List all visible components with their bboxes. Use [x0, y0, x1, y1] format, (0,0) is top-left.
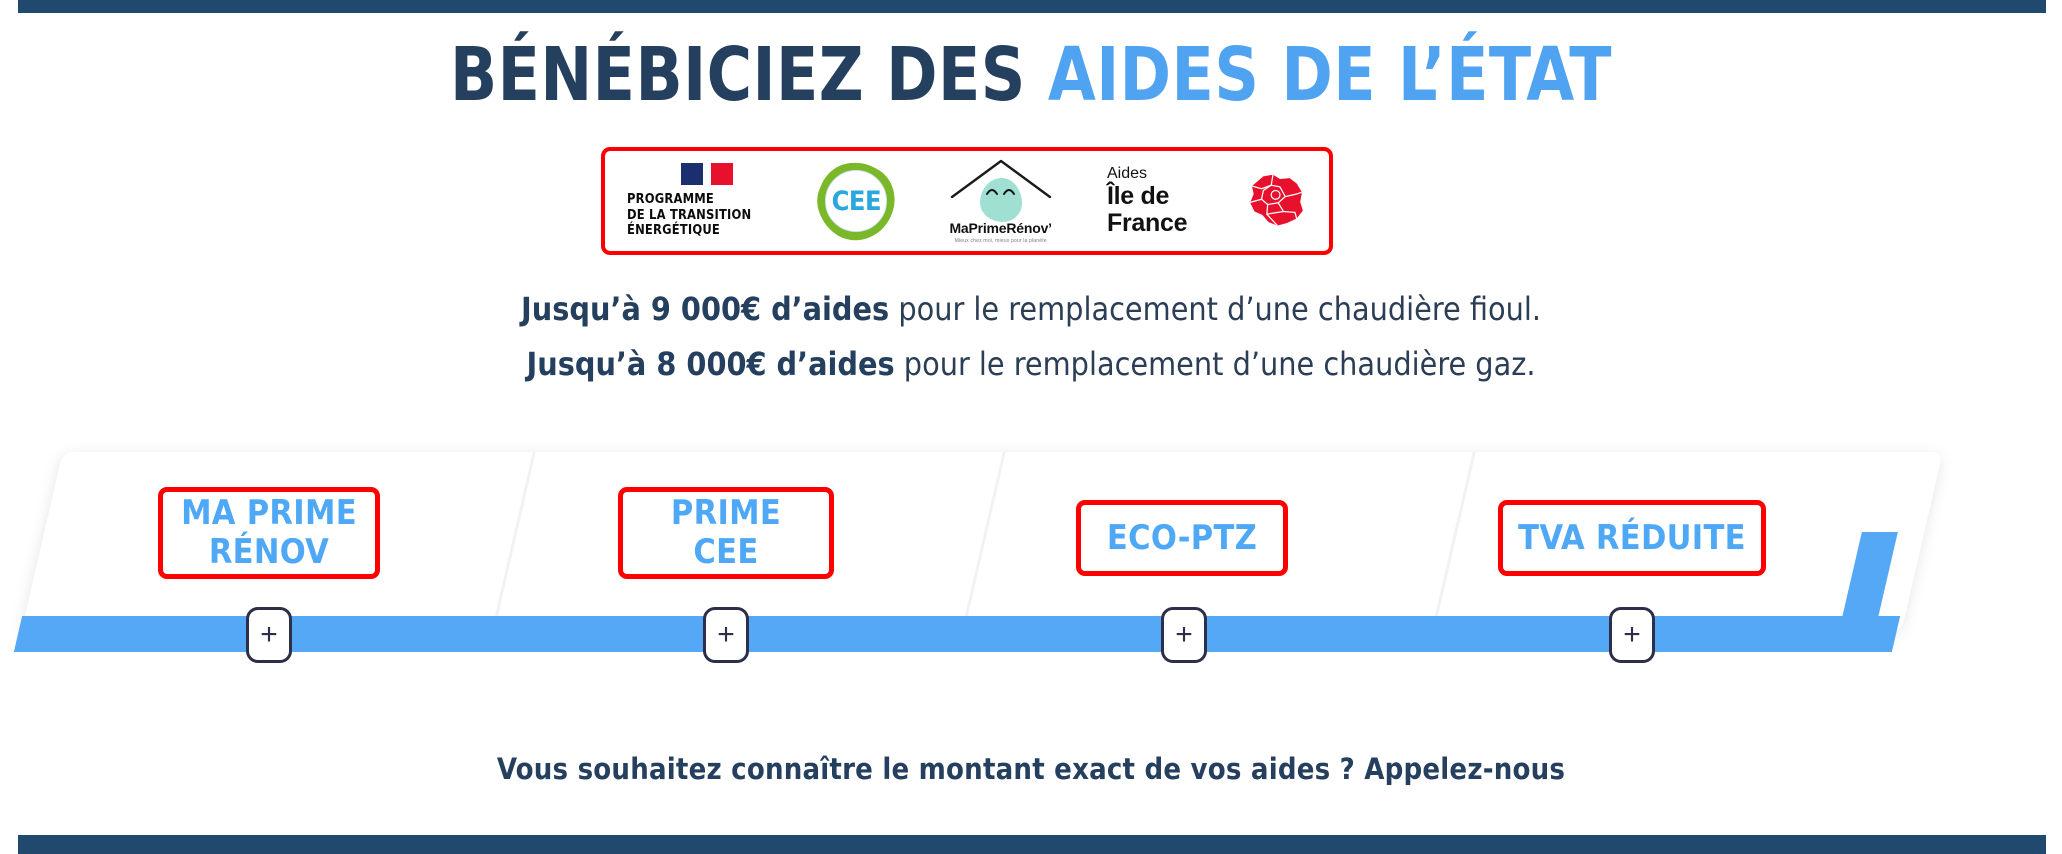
maprimerenov-label: MaPrimeRénov’: [949, 220, 1051, 236]
idf-line-2: Île de France: [1107, 183, 1238, 237]
logo-aides-ile-de-france: Aides Île de France: [1107, 165, 1307, 237]
call-to-action-text: Vous souhaitez connaître le montant exac…: [0, 752, 2062, 786]
logo-programme-transition-energetique: PROGRAMME DE LA TRANSITION ÉNERGÉTIQUE: [627, 163, 787, 239]
plus-icon: +: [1175, 620, 1193, 650]
page-title: BÉNÉBICIEZ DES AIDES DE L’ÉTAT: [72, 36, 1990, 114]
aid-card-line-2: RÉNOV: [181, 533, 357, 572]
aid-amount-bold-fioul: Jusqu’à 9 000€ d’aides: [521, 290, 889, 328]
aid-amount-line-gaz: Jusqu’à 8 000€ d’aides pour le remplacem…: [0, 337, 2062, 392]
page-title-dark-part: BÉNÉBICIEZ DES: [450, 32, 1048, 118]
expand-button-ma-prime-renov[interactable]: +: [246, 607, 292, 663]
aid-card-eco-ptz[interactable]: ECO-PTZ: [1076, 500, 1288, 576]
cee-badge-icon: CEE: [818, 163, 894, 239]
aid-card-line-1: PRIME: [671, 494, 781, 533]
plus-icon: +: [1623, 620, 1641, 650]
aid-amount-bold-gaz: Jusqu’à 8 000€ d’aides: [527, 345, 895, 383]
expand-button-tva-reduite[interactable]: +: [1609, 607, 1655, 663]
aid-card-line-1: ECO-PTZ: [1107, 519, 1257, 558]
partner-logo-strip: PROGRAMME DE LA TRANSITION ÉNERGÉTIQUE C…: [601, 147, 1333, 255]
page-title-blue-part: AIDES DE L’ÉTAT: [1048, 32, 1612, 118]
ribbon-divider: [1431, 452, 1476, 632]
expand-button-eco-ptz[interactable]: +: [1161, 607, 1207, 663]
aid-card-line-1: MA PRIME: [181, 494, 357, 533]
cee-label: CEE: [832, 186, 882, 217]
maprimerenov-tagline: Mieux chez moi, mieux pour la planète: [955, 238, 1047, 244]
bottom-divider-bar: [18, 835, 2046, 854]
pte-line-3: ÉNERGÉTIQUE: [627, 223, 779, 239]
aid-card-ma-prime-renov[interactable]: MA PRIME RÉNOV: [158, 487, 380, 579]
smiling-eyes-icon: [985, 185, 1017, 197]
ile-de-france-map-icon: [1244, 169, 1307, 233]
plus-icon: +: [717, 620, 735, 650]
maprimerenov-mark-icon: [949, 158, 1053, 216]
aid-card-line-1: TVA RÉDUITE: [1518, 519, 1746, 558]
pte-line-1: PROGRAMME: [627, 192, 779, 208]
expand-button-prime-cee[interactable]: +: [703, 607, 749, 663]
aid-card-prime-cee[interactable]: PRIME CEE: [618, 487, 834, 579]
aid-amount-rest-fioul: pour le remplacement d’une chaudière fio…: [889, 290, 1541, 328]
plus-icon: +: [260, 620, 278, 650]
top-divider-bar: [18, 0, 2046, 13]
ribbon-divider: [961, 452, 1006, 632]
logo-maprimerenov: MaPrimeRénov’ Mieux chez moi, mieux pour…: [926, 158, 1076, 244]
aid-amount-rest-gaz: pour le remplacement d’une chaudière gaz…: [895, 345, 1536, 383]
logo-cee: CEE: [818, 163, 894, 239]
french-flag-icon: [681, 163, 733, 185]
aid-card-line-2: CEE: [671, 533, 781, 572]
aid-card-tva-reduite[interactable]: TVA RÉDUITE: [1498, 500, 1766, 576]
ribbon-divider: [491, 452, 536, 632]
idf-line-1: Aides: [1107, 165, 1238, 183]
pte-line-2: DE LA TRANSITION: [627, 208, 779, 224]
aids-ribbon: MA PRIME RÉNOV + PRIME CEE + ECO-PTZ + T…: [0, 440, 2062, 670]
aid-amount-line-fioul: Jusqu’à 9 000€ d’aides pour le remplacem…: [0, 282, 2062, 337]
aid-amount-statements: Jusqu’à 9 000€ d’aides pour le remplacem…: [0, 282, 2062, 392]
